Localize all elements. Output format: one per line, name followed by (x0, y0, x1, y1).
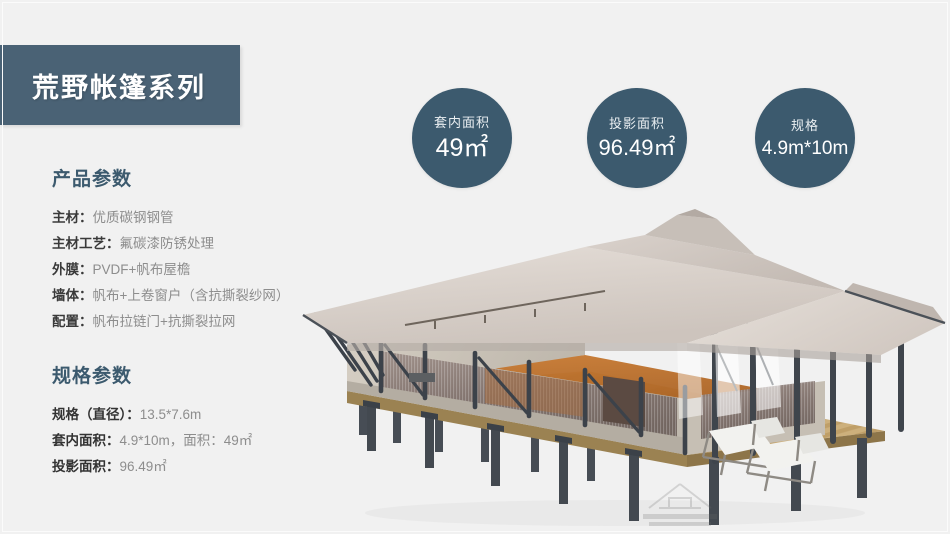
stat-circle-projected-area: 投影面积 96.49㎡ (587, 88, 687, 188)
roof-underside-front (347, 343, 687, 351)
param-value: 氟碳漆防锈处理 (120, 236, 215, 251)
stat-circle-value: 49㎡ (436, 136, 489, 161)
slide-canvas: 荒野帐篷系列 产品参数 主材：优质碳钢钢管 主材工艺：氟碳漆防锈处理 外膜：PV… (0, 0, 950, 534)
stat-circle-label: 套内面积 (434, 116, 490, 129)
spec-key: 套内面积： (52, 433, 120, 448)
stat-circle-label: 投影面积 (609, 117, 665, 130)
title-banner: 荒野帐篷系列 (0, 45, 240, 125)
param-key: 主材工艺： (52, 236, 120, 251)
stat-circle-value: 96.49㎡ (598, 137, 675, 159)
stat-circle-label: 规格 (791, 119, 819, 132)
param-row: 外膜：PVDF+帆布屋檐 (52, 257, 352, 283)
page-title: 荒野帐篷系列 (32, 66, 206, 105)
stat-circle-dimensions: 规格 4.9m*10m (755, 88, 855, 188)
product-params-heading: 产品参数 (52, 164, 352, 191)
spec-value: 4.9*10m，面积：49㎡ (120, 433, 253, 448)
tent-illustration (285, 195, 950, 534)
param-value: PVDF+帆布屋檐 (93, 262, 191, 277)
spec-params-heading: 规格参数 (52, 361, 352, 388)
param-key: 墙体： (52, 288, 93, 303)
spec-key: 投影面积： (52, 459, 120, 474)
param-value: 帆布+上卷窗户（含抗撕裂纱网） (93, 288, 290, 303)
wall-vent (409, 373, 435, 382)
spec-row: 投影面积：96.49㎡ (52, 454, 352, 480)
spec-params-block: 规格参数 规格（直径）：13.5*7.6m 套内面积：4.9*10m，面积：49… (52, 361, 352, 480)
param-key: 外膜： (52, 262, 93, 277)
parameters-column: 产品参数 主材：优质碳钢钢管 主材工艺：氟碳漆防锈处理 外膜：PVDF+帆布屋檐… (52, 164, 352, 480)
tent-render-image (285, 195, 950, 534)
spec-row: 套内面积：4.9*10m，面积：49㎡ (52, 428, 352, 454)
spec-key: 规格（直径）： (52, 407, 140, 422)
spec-value: 96.49㎡ (120, 459, 167, 474)
spec-row: 规格（直径）：13.5*7.6m (52, 402, 352, 428)
param-value: 优质碳钢钢管 (93, 210, 174, 225)
param-row: 配置：帆布拉链门+抗撕裂拉网 (52, 309, 352, 335)
param-key: 主材： (52, 210, 93, 225)
param-row: 墙体：帆布+上卷窗户（含抗撕裂纱网） (52, 283, 352, 309)
spec-value: 13.5*7.6m (140, 407, 202, 422)
stat-circle-value: 4.9m*10m (762, 139, 849, 158)
stat-circle-interior-area: 套内面积 49㎡ (412, 88, 512, 188)
param-row: 主材工艺：氟碳漆防锈处理 (52, 231, 352, 257)
param-row: 主材：优质碳钢钢管 (52, 205, 352, 231)
param-value: 帆布拉链门+抗撕裂拉网 (93, 314, 236, 329)
param-key: 配置： (52, 314, 93, 329)
